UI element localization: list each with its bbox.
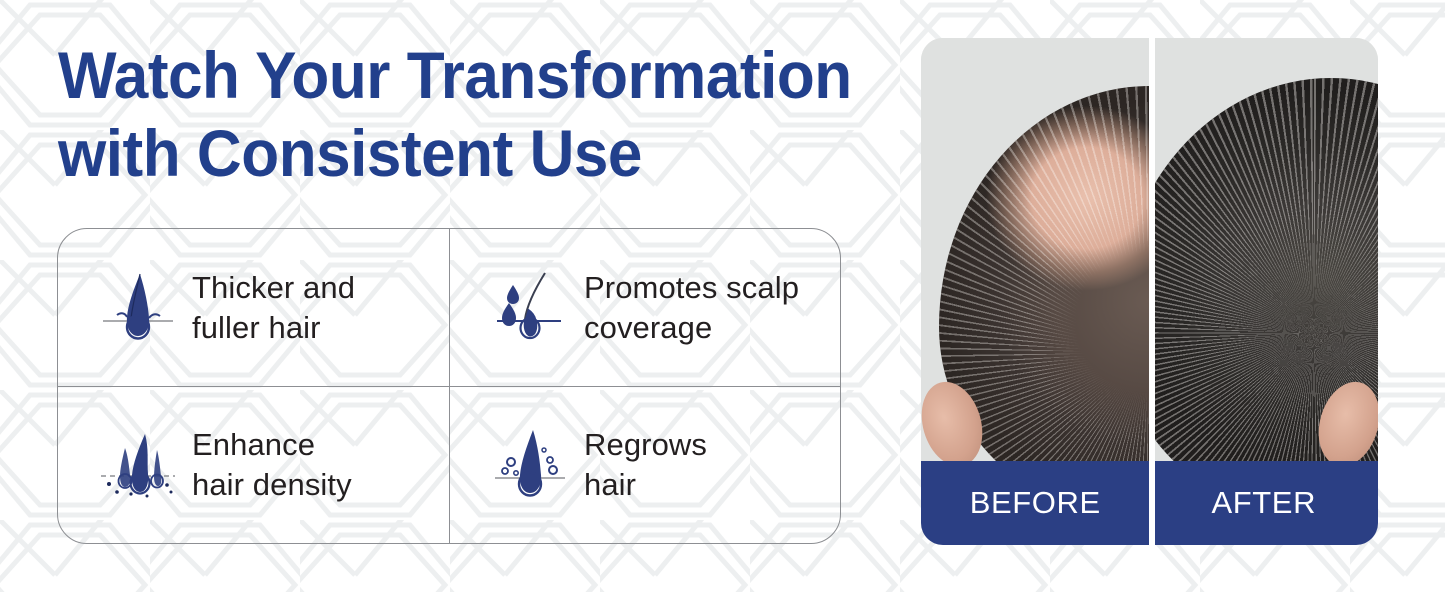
hair-follicle-droplets-icon (484, 262, 576, 354)
feature-label: Promotes scalp coverage (584, 268, 799, 348)
before-after-label-bar: BEFORE AFTER (921, 461, 1378, 545)
feature-item-enhance-hair-density: Enhance hair density (58, 386, 449, 543)
hair-follicle-icon (92, 262, 184, 354)
label-bar-divider (1149, 461, 1155, 545)
after-label: AFTER (1150, 485, 1379, 521)
before-label: BEFORE (921, 485, 1150, 521)
before-photo-half (921, 38, 1149, 461)
page-title: Watch Your Transformation with Consisten… (58, 36, 819, 192)
feature-item-regrows-hair: Regrows hair (449, 386, 840, 543)
feature-label: Enhance hair density (192, 425, 352, 505)
feature-item-thicker-fuller-hair: Thicker and fuller hair (58, 229, 449, 386)
features-card: Thicker and fuller hair Promotes scalp c… (57, 228, 841, 544)
hair-follicle-sparkles-icon (484, 419, 576, 511)
feature-label: Thicker and fuller hair (192, 268, 355, 348)
feature-label: Regrows hair (584, 425, 707, 505)
feature-item-promotes-scalp-coverage: Promotes scalp coverage (449, 229, 840, 386)
multiple-hair-follicles-icon (92, 419, 184, 511)
before-after-photo (921, 38, 1378, 461)
headline-line-1: Watch Your Transformation (58, 36, 819, 114)
before-after-divider (1149, 38, 1155, 461)
after-photo-half (1150, 38, 1378, 461)
promo-banner: Watch Your Transformation with Consisten… (0, 0, 1445, 592)
before-after-panel: BEFORE AFTER (921, 38, 1378, 545)
headline-line-2: with Consistent Use (58, 114, 819, 192)
